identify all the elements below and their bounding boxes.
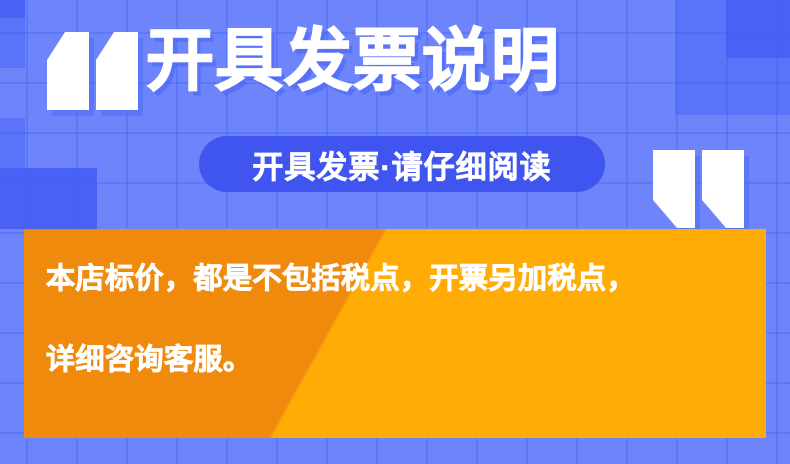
page-title: 开具发票说明: [146, 27, 560, 95]
subtitle-pill-badge: 开具发票·请仔细阅读: [199, 136, 605, 192]
right-double-quote-icon: [653, 150, 749, 236]
notice-line-2: 详细咨询客服。: [46, 346, 766, 375]
notice-line-1: 本店标价，都是不包括税点，开票另加税点，: [46, 265, 766, 294]
notice-panel: 本店标价，都是不包括税点，开票另加税点， 详细咨询客服。: [24, 229, 766, 438]
left-double-quote-icon: [47, 32, 143, 118]
subtitle-pill-label: 开具发票·请仔细阅读: [252, 142, 551, 187]
notice-panel-body: 本店标价，都是不包括税点，开票另加税点， 详细咨询客服。: [24, 229, 766, 375]
invoice-notice-banner: 开具发票说明 开具发票·请仔细阅读 本店标价，都是不包括税点，开票另加税点， 详…: [0, 0, 790, 464]
